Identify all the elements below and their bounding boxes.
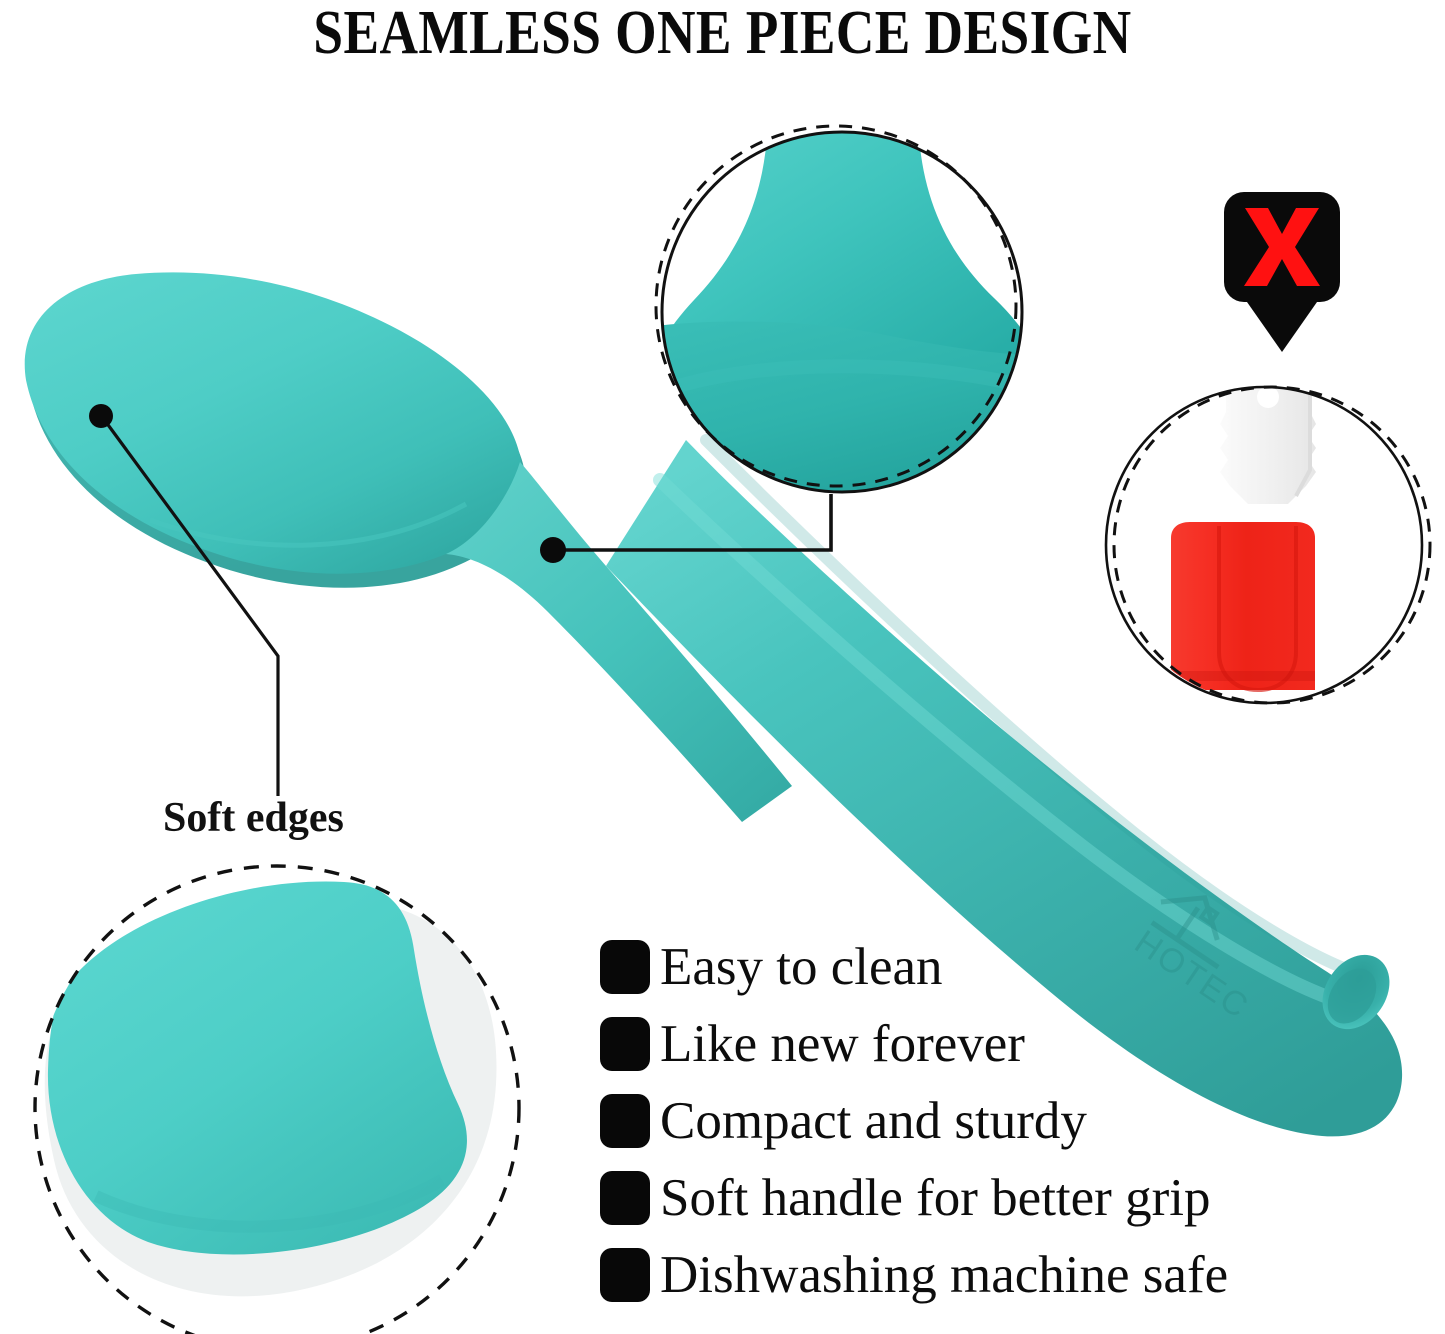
warning-badge <box>1224 192 1340 352</box>
filled-square-bullet-icon <box>600 1171 650 1225</box>
two-piece-design-detail <box>1100 372 1440 720</box>
feature-item: Compact and sturdy <box>600 1082 1380 1159</box>
feature-label: Dishwashing machine safe <box>660 1247 1228 1303</box>
filled-square-bullet-icon <box>600 1094 650 1148</box>
feature-label: Like new forever <box>660 1016 1025 1072</box>
feature-item: Soft handle for better grip <box>600 1159 1380 1236</box>
feature-item: Like new forever <box>600 1005 1380 1082</box>
seamless-joint-anchor-dot <box>540 537 566 563</box>
feature-label: Soft handle for better grip <box>660 1170 1210 1226</box>
feature-label: Compact and sturdy <box>660 1093 1087 1149</box>
feature-item: Dishwashing machine safe <box>600 1236 1380 1313</box>
filled-square-bullet-icon <box>600 940 650 994</box>
filled-square-bullet-icon <box>600 1248 650 1302</box>
filled-square-bullet-icon <box>600 1017 650 1071</box>
white-handle-hole <box>1257 386 1279 408</box>
feature-item: Easy to clean <box>600 928 1380 1005</box>
feature-list: Easy to clean Like new forever Compact a… <box>600 928 1380 1313</box>
soft-edge-detail <box>30 860 530 1334</box>
infographic-canvas: SEAMLESS ONE PIECE DESIGN <box>0 0 1445 1334</box>
down-arrow-icon <box>1247 302 1317 352</box>
soft-edges-callout-label: Soft edges <box>163 796 344 840</box>
soft-edges-anchor-dot <box>89 404 113 428</box>
feature-label: Easy to clean <box>660 939 943 995</box>
